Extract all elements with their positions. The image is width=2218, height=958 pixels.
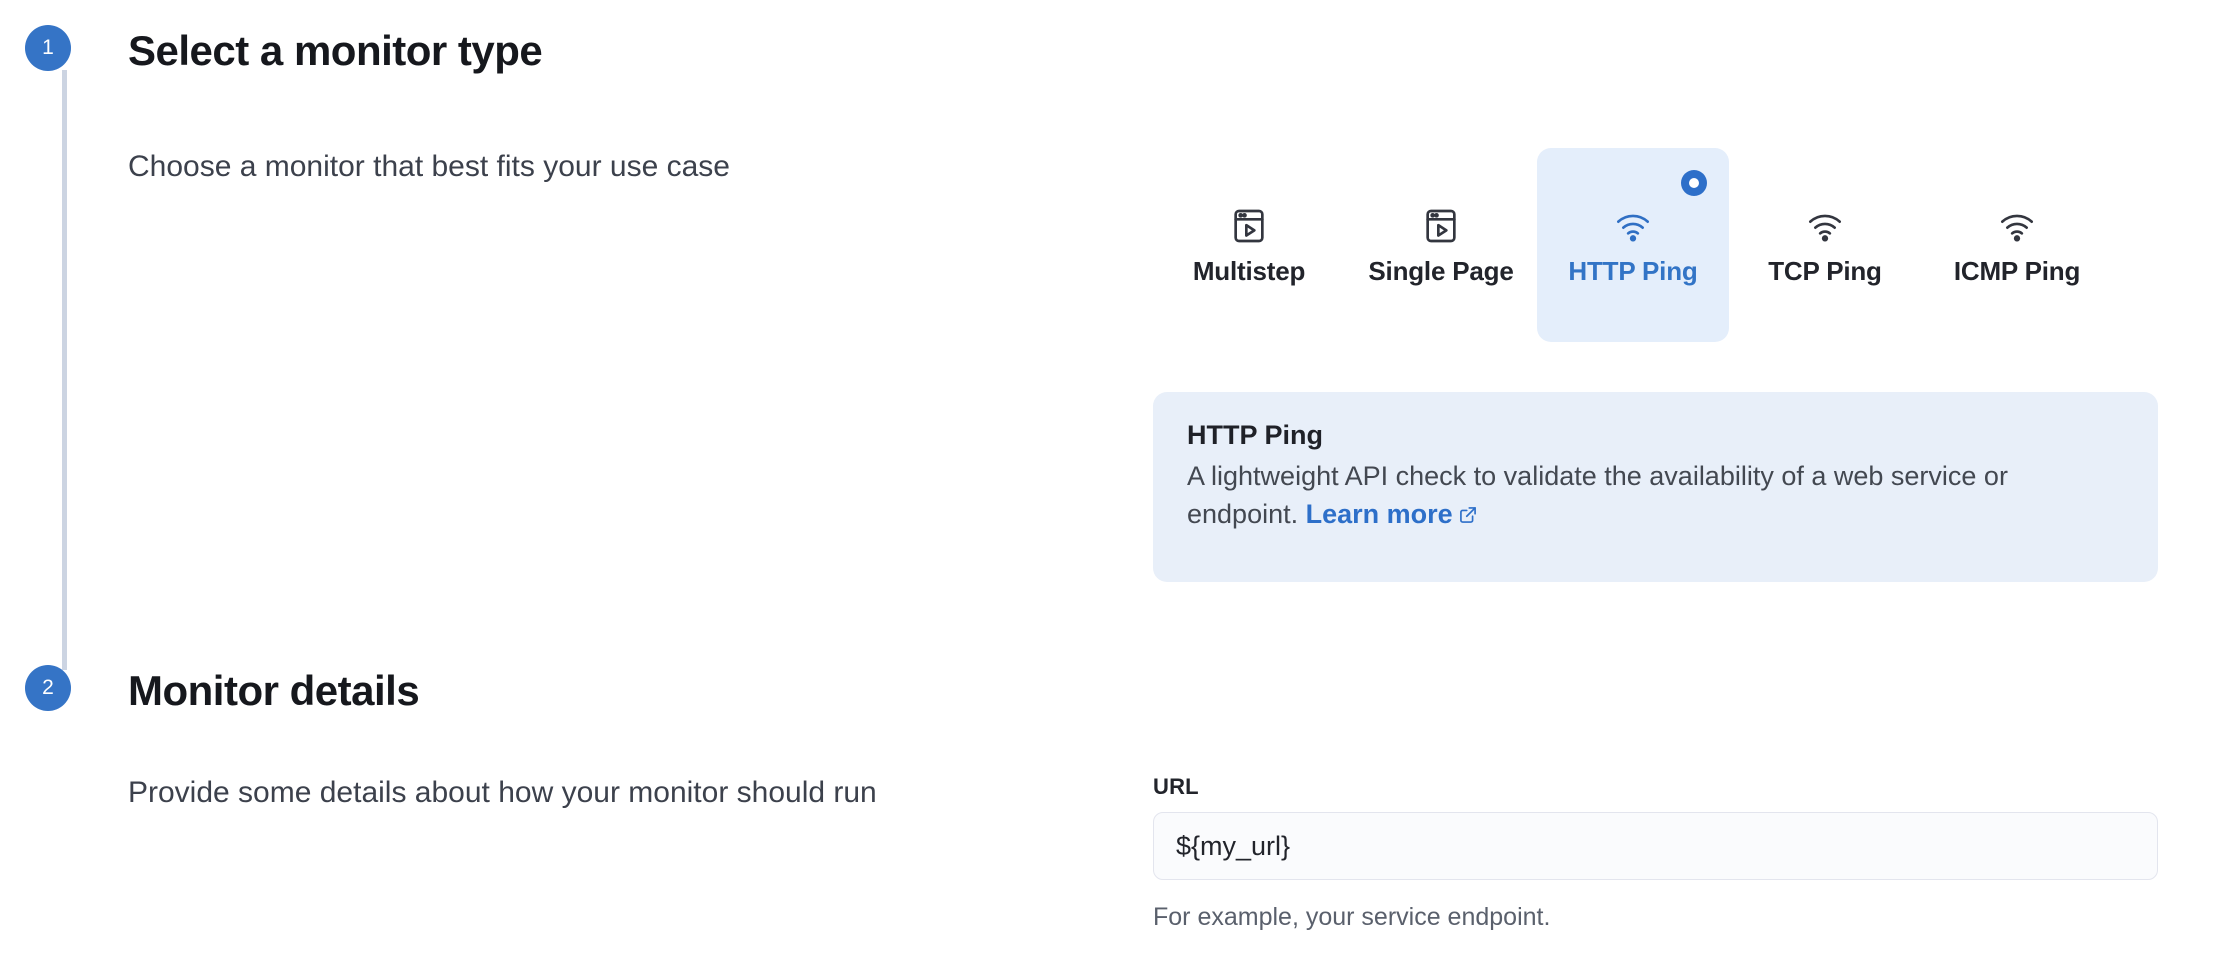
monitor-type-info-panel: HTTP Ping A lightweight API check to val… [1153,392,2158,582]
wifi-icon [1997,206,2037,246]
step-2-badge: 2 [25,665,71,711]
info-panel-title: HTTP Ping [1187,420,2124,451]
monitor-type-selector: Multistep Single Page HTTP Ping [1153,148,2158,342]
step-1-badge: 1 [25,25,71,71]
info-panel-description: A lightweight API check to validate the … [1187,457,2117,534]
monitor-type-card-http-ping[interactable]: HTTP Ping [1537,148,1729,342]
external-link-icon [1458,505,1478,525]
learn-more-label: Learn more [1306,499,1453,529]
monitor-type-label: HTTP Ping [1568,256,1697,287]
url-input[interactable] [1153,812,2158,880]
monitor-type-label: Multistep [1193,256,1305,287]
monitor-type-card-single-page[interactable]: Single Page [1345,148,1537,342]
wifi-icon [1805,206,1845,246]
step-2-number: 2 [42,676,54,700]
url-field-hint: For example, your service endpoint. [1153,903,1550,932]
step-1-number: 1 [42,36,54,60]
stepper-rail [62,70,67,670]
browser-play-icon [1229,206,1269,246]
monitor-type-label: Single Page [1368,256,1513,287]
radio-selected-icon[interactable] [1681,170,1707,196]
step-1-subtitle: Choose a monitor that best fits your use… [128,150,730,184]
monitor-type-label: ICMP Ping [1954,256,2080,287]
learn-more-link[interactable]: Learn more [1306,499,1478,529]
monitor-type-card-icmp-ping[interactable]: ICMP Ping [1921,148,2113,342]
monitor-type-card-tcp-ping[interactable]: TCP Ping [1729,148,1921,342]
url-field-label: URL [1153,774,1199,800]
step-2-title: Monitor details [128,667,419,715]
wifi-icon [1613,206,1653,246]
monitor-type-card-multistep[interactable]: Multistep [1153,148,1345,342]
browser-play-icon [1421,206,1461,246]
monitor-type-label: TCP Ping [1768,256,1881,287]
step-2-subtitle: Provide some details about how your moni… [128,776,877,810]
monitor-setup-page: 1 Select a monitor type Choose a monitor… [0,0,2218,958]
step-1-title: Select a monitor type [128,27,542,75]
